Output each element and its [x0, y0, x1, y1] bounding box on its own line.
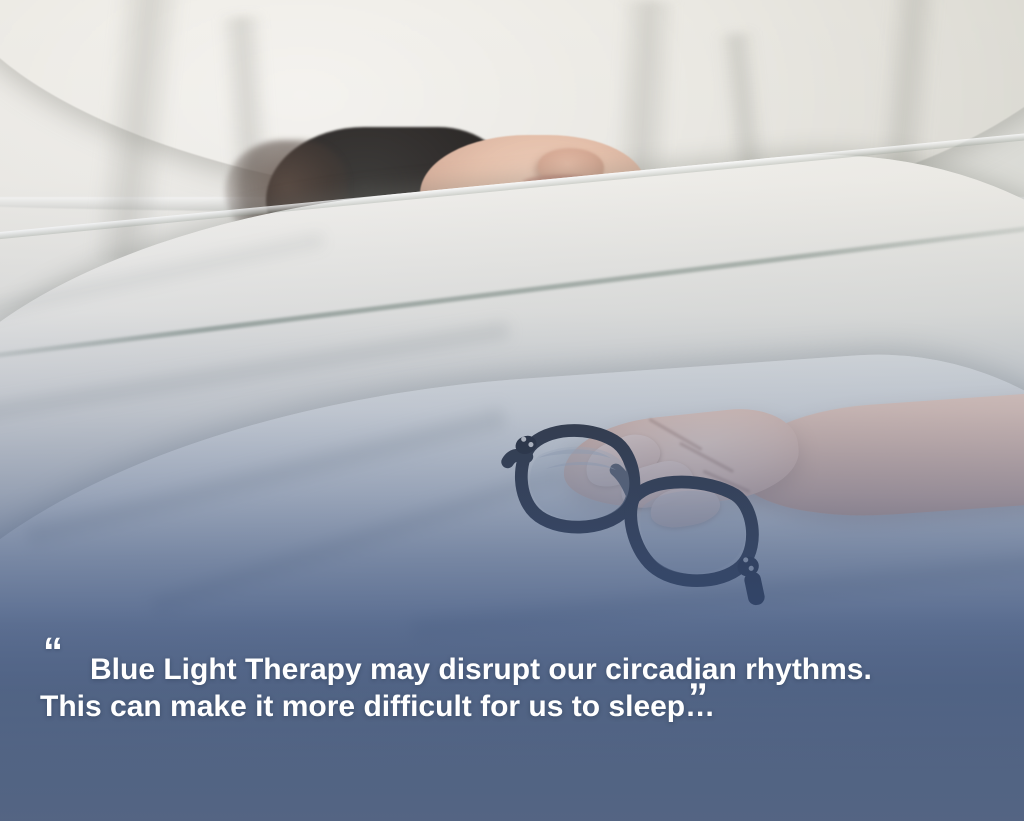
open-quote-mark: “ — [43, 632, 61, 672]
promo-image-card: “ Blue Light Therapy may disrupt our cir… — [0, 0, 1024, 821]
quote-line-1-regular: Blue Light Therapy may disrupt our — [90, 653, 605, 686]
quote-line-2: This can make it more difficult for us t… — [40, 690, 715, 725]
quote-line-1: Blue Light Therapy may disrupt our circa… — [90, 653, 872, 688]
quote-line-1-emphasis: circadian rhythms. — [605, 653, 872, 686]
close-quote-mark: ” — [688, 678, 706, 718]
